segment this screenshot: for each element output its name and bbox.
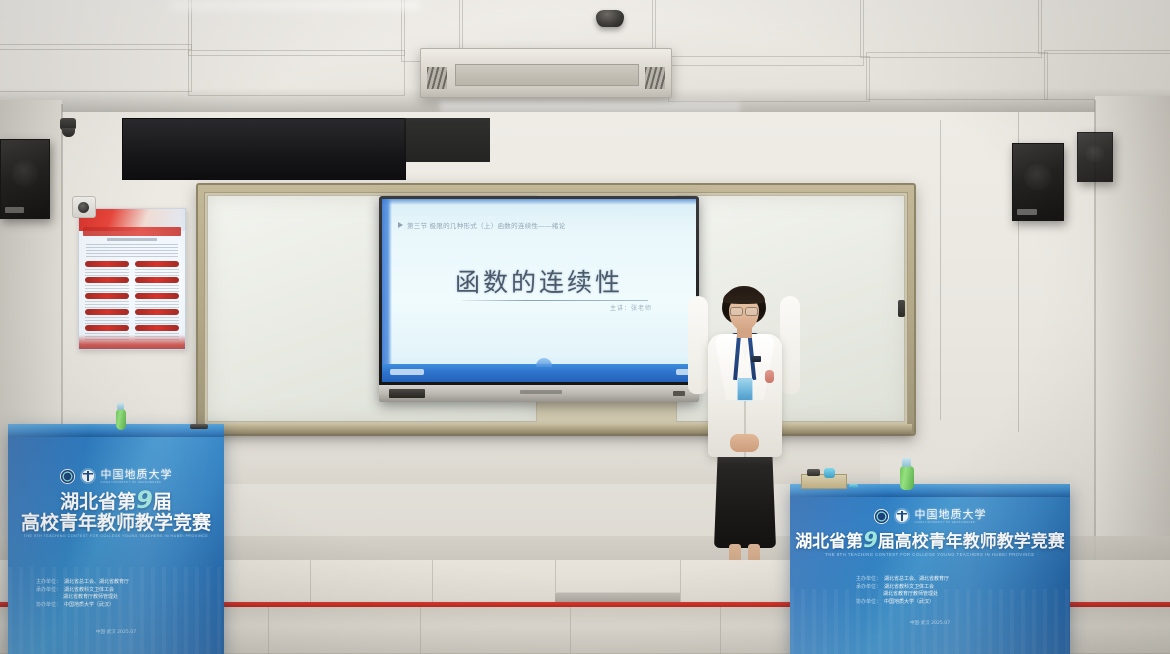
- podium-right-footer: 中国·武汉 2025.07: [790, 620, 1070, 626]
- teacher-right-arm: [780, 296, 800, 394]
- classroom-scene: 第三节 极限的几种形式（上）函数的连续性——绪论 函数的连续性 主讲：张老师: [0, 0, 1170, 654]
- wall-poster: [78, 208, 186, 350]
- ceiling-light-strip: [170, 0, 420, 10]
- interactive-smart-board[interactable]: 第三节 极限的几种形式（上）函数的连续性——绪论 函数的连续性 主讲：张老师: [379, 196, 699, 402]
- speaker-left-wall: [0, 139, 50, 219]
- ceiling: [0, 0, 1170, 118]
- teacher-skirt: [714, 452, 776, 548]
- org-value-organizer: 湖北省教科文卫体工会: [884, 584, 934, 592]
- whiteboard-marker-tray: [196, 424, 912, 434]
- org-label-organizer: 承办单位：: [36, 587, 61, 595]
- slide-title-rule: [462, 300, 648, 301]
- org-value-host: 湖北省总工会、湖北省教育厅: [884, 576, 949, 584]
- whiteboard-handle[interactable]: [898, 300, 905, 317]
- university-seal-icon: [894, 508, 910, 524]
- podium-left-logo-row: 中国地质大学 CHINA UNIVERSITY OF GEOSCIENCES: [8, 468, 224, 484]
- podium-left-banner-en: THE 9TH TEACHING CONTEST FOR COLLEGE YOU…: [8, 534, 224, 538]
- org-label-coorganizer: 协办单位：: [36, 602, 61, 610]
- teacher-name-pin: [751, 356, 761, 362]
- teacher-hands: [730, 434, 759, 452]
- upper-dark-panel-secondary: [404, 118, 490, 162]
- presenting-teacher: [690, 286, 798, 582]
- green-spray-bottle-left[interactable]: [116, 409, 126, 430]
- slide-author: 主讲：张老师: [610, 303, 652, 312]
- poster-footer-graphic: [79, 335, 185, 349]
- podium-right-banner-en: THE 9TH TEACHING CONTEST FOR COLLEGE YOU…: [790, 552, 1070, 557]
- dome-camera-ceiling: [596, 10, 624, 27]
- speaker-right-wall-back: [1077, 132, 1113, 182]
- podium-left-banner-line2: 高校青年教师教学竞赛: [8, 513, 224, 534]
- slide-header: 第三节 极限的几种形式（上）函数的连续性——绪论: [398, 220, 670, 229]
- podium-left-footer: 中国·武汉 2025.07: [8, 629, 224, 635]
- org-label-coorganizer: 协办单位：: [856, 599, 881, 607]
- podium-left: 中国地质大学 CHINA UNIVERSITY OF GEOSCIENCES 湖…: [8, 424, 224, 654]
- slide-header-text: 第三节 极限的几种形式（上）函数的连续性——绪论: [407, 220, 566, 230]
- spray-bottle-cap-right[interactable]: [902, 458, 911, 467]
- podium-right: 中国地质大学 CHINA UNIVERSITY OF GEOSCIENCES 湖…: [790, 484, 1070, 654]
- upper-dark-panel: [122, 118, 406, 180]
- small-device-right[interactable]: [807, 469, 820, 476]
- contest-edition-number: 9: [136, 486, 153, 514]
- university-seal-icon: [80, 468, 96, 484]
- contest-edition-number: 9: [863, 528, 878, 552]
- geoscience-emblem-icon: [874, 509, 889, 524]
- display-brand-logo: [520, 390, 562, 394]
- org-value-host: 湖北省总工会、湖北省教育厅: [64, 579, 129, 587]
- poster-intro-text: [86, 244, 178, 258]
- teacher-id-badge: [737, 378, 753, 401]
- remote-control-left[interactable]: [190, 424, 208, 429]
- display-ports[interactable]: [389, 389, 425, 398]
- slide-title: 函数的连续性: [382, 263, 696, 299]
- camera-on-poster-wall: [72, 196, 96, 218]
- green-spray-bottle-right[interactable]: [900, 466, 914, 490]
- podium-right-organizers: 主办单位：湖北省总工会、湖北省教育厅 承办单位：湖北省教科文卫体工会 湖北省教育…: [856, 576, 949, 606]
- org-value-organizer-2: 湖北省教育厅教师管理处: [883, 591, 938, 599]
- geoscience-emblem-icon: [60, 469, 75, 484]
- blue-marker-right[interactable]: [849, 484, 858, 488]
- podium-left-university-cn: 中国地质大学: [101, 469, 173, 481]
- spray-bottle-cap-left[interactable]: [117, 403, 124, 410]
- poster-subtitle-band: [107, 238, 157, 241]
- org-label-host: 主办单位：: [856, 576, 881, 584]
- org-label-organizer: 承办单位：: [856, 584, 881, 592]
- screen-taskbar[interactable]: [382, 364, 696, 382]
- poster-title-band: [83, 227, 181, 236]
- org-label-host: 主办单位：: [36, 579, 61, 587]
- teacher-left-arm: [688, 296, 708, 394]
- podium-left-organizers: 主办单位：湖北省总工会、湖北省教育厅 承办单位：湖北省教科文卫体工会 湖北省教育…: [36, 579, 129, 609]
- display-ir-sensor: [673, 391, 685, 396]
- podium-right-banner: 湖北省第9届高校青年教师教学竞赛: [790, 531, 1070, 552]
- org-value-organizer: 湖北省教科文卫体工会: [64, 587, 114, 595]
- blue-bottle-right[interactable]: [824, 468, 835, 478]
- taskbar-handle[interactable]: [536, 358, 552, 367]
- org-value-organizer-2: 湖北省教育厅教师管理处: [63, 594, 118, 602]
- teacher-glasses: [730, 307, 758, 314]
- display-bottom-bezel: [379, 385, 699, 402]
- podium-left-banner-line1: 湖北省第9届: [8, 490, 224, 513]
- speaker-right-wall-front: [1012, 143, 1064, 221]
- slide-bullet-icon: [398, 222, 403, 228]
- podium-right-logo-row: 中国地质大学 CHINA UNIVERSITY OF GEOSCIENCES: [790, 508, 1070, 524]
- taskbar-left-button[interactable]: [390, 369, 424, 375]
- poster-items-grid: [85, 261, 179, 339]
- org-value-coorganizer: 中国地质大学（武汉）: [64, 602, 114, 610]
- podium-right-university-cn: 中国地质大学: [915, 509, 987, 521]
- org-value-coorganizer: 中国地质大学（武汉）: [884, 599, 934, 607]
- presentation-screen[interactable]: 第三节 极限的几种形式（上）函数的连续性——绪论 函数的连续性 主讲：张老师: [382, 199, 696, 382]
- teacher-sleeve-patch: [765, 370, 774, 383]
